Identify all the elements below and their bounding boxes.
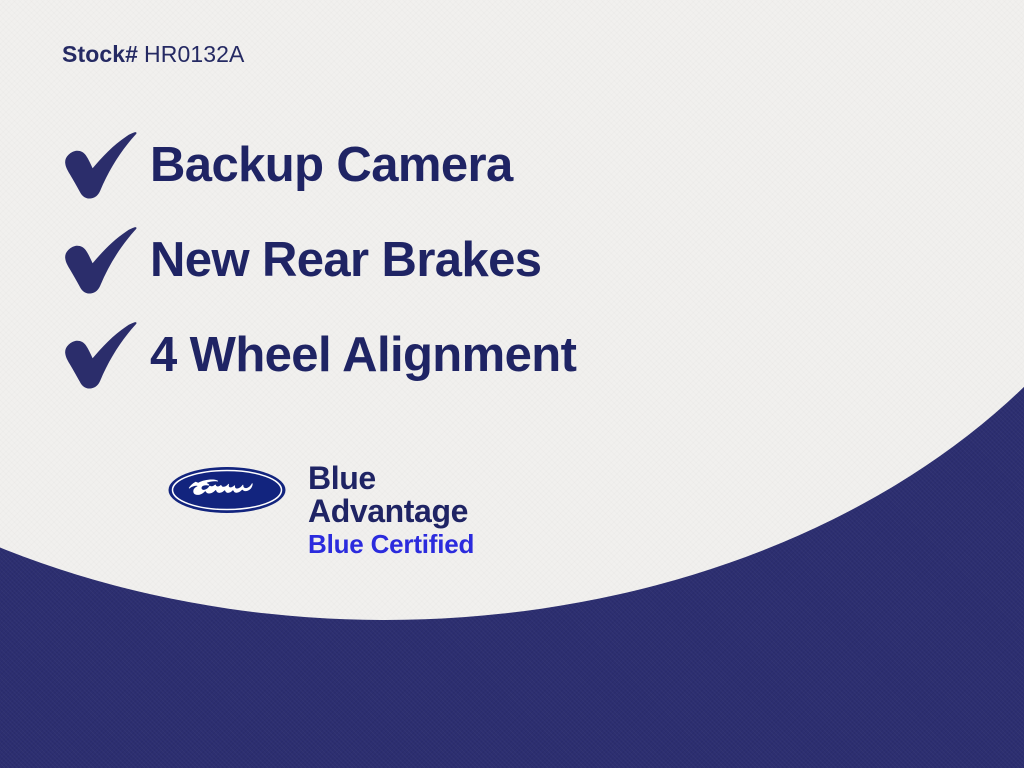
check-icon — [58, 221, 153, 301]
blue-advantage-line2: Advantage — [308, 495, 474, 528]
stock-number-value: HR0132A — [138, 41, 244, 67]
ford-oval-logo-icon — [168, 466, 286, 514]
feature-item: New Rear Brakes — [58, 213, 758, 308]
feature-list: Backup Camera New Rear Brakes 4 Wheel Al… — [58, 118, 758, 403]
blue-advantage-line1: Blue — [308, 462, 474, 495]
ford-blue-advantage-lockup: Blue Advantage Blue Certified — [168, 460, 474, 560]
check-icon — [58, 126, 153, 206]
feature-label: New Rear Brakes — [150, 236, 541, 285]
feature-label: 4 Wheel Alignment — [150, 331, 576, 380]
blue-advantage-text: Blue Advantage Blue Certified — [308, 460, 474, 560]
feature-label: Backup Camera — [150, 141, 513, 190]
stock-number-label: Stock# — [62, 41, 138, 67]
feature-item: 4 Wheel Alignment — [58, 308, 758, 403]
check-icon — [58, 316, 153, 396]
feature-item: Backup Camera — [58, 118, 758, 213]
stock-number: Stock#HR0132A — [62, 41, 244, 68]
content-layer: Stock#HR0132A Backup Camera New Rear Bra… — [0, 0, 1024, 768]
blue-certified-label: Blue Certified — [308, 529, 474, 561]
